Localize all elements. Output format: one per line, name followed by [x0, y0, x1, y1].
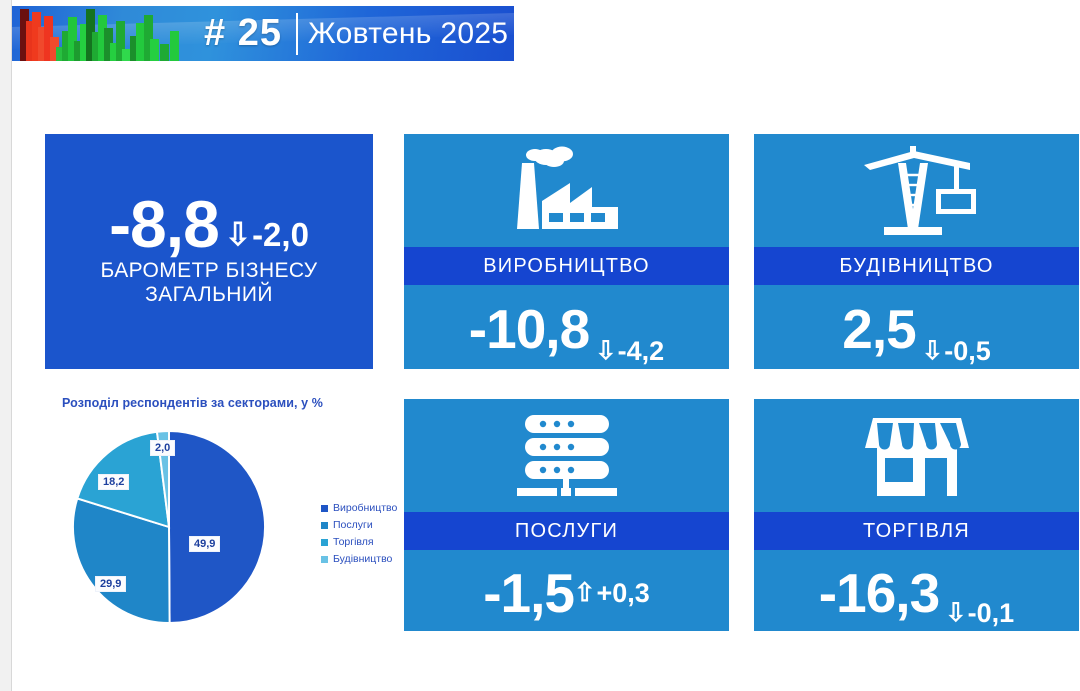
- overall-delta: ⇩-2,0: [225, 218, 309, 251]
- overall-label-line1: БАРОМЕТР БІЗНЕСУ: [100, 259, 317, 283]
- arrow-down-icon: ⇩: [225, 219, 251, 250]
- bar-chart-logo-icon: [18, 6, 198, 61]
- factory-icon: [404, 134, 729, 247]
- sector-delta-construction: ⇩-0,5: [922, 338, 991, 365]
- sector-delta-value-manufacturing: -4,2: [618, 338, 665, 365]
- legend-swatch-icon: [321, 505, 328, 512]
- arrow-down-icon: ⇩: [922, 339, 943, 365]
- legend-swatch-icon: [321, 556, 328, 563]
- sector-card-services: ПОСЛУГИ -1,5 ⇧+0,3: [404, 399, 729, 631]
- page-canvas: # 25 Жовтень 2025 -8,8 ⇩-2,0 БАРОМЕТР БІ…: [12, 0, 1080, 691]
- banner-divider: [296, 13, 298, 55]
- sector-value-row-manufacturing: -10,8 ⇩-4,2: [404, 285, 729, 369]
- arrow-up-icon: ⇧: [574, 581, 595, 607]
- respondents-pie-chart: Розподіл респондентів за секторами, у % …: [45, 396, 390, 636]
- page-left-gutter: [0, 0, 11, 691]
- sector-delta-services: ⇧+0,3: [574, 580, 650, 607]
- legend-item-3: Будівництво: [321, 551, 397, 568]
- sector-delta-manufacturing: ⇩-4,2: [595, 338, 664, 365]
- header-banner: # 25 Жовтень 2025: [12, 6, 514, 61]
- pie-label-3: 2,0: [150, 440, 175, 456]
- pie-svg: [71, 429, 267, 625]
- sector-delta-trade: ⇩-0,1: [945, 600, 1014, 627]
- pie-label-1: 29,9: [95, 576, 126, 592]
- sector-value-row-construction: 2,5 ⇩-0,5: [754, 285, 1079, 369]
- overall-delta-value: -2,0: [252, 218, 309, 251]
- legend-swatch-icon: [321, 522, 328, 529]
- legend-item-0: Виробництво: [321, 500, 397, 517]
- sector-label-construction: БУДІВНИЦТВО: [754, 247, 1079, 285]
- sector-value-trade: -16,3: [819, 569, 939, 619]
- sector-label-services: ПОСЛУГИ: [404, 512, 729, 550]
- overall-label-line2: ЗАГАЛЬНИЙ: [100, 283, 317, 307]
- issue-number: # 25: [188, 8, 298, 58]
- legend-swatch-icon: [321, 539, 328, 546]
- sector-delta-value-construction: -0,5: [944, 338, 991, 365]
- sector-value-row-trade: -16,3 ⇩-0,1: [754, 550, 1079, 631]
- crane-icon: [754, 134, 1079, 247]
- arrow-down-icon: ⇩: [945, 601, 966, 627]
- sector-delta-value-trade: -0,1: [968, 600, 1015, 627]
- overall-barometer-card: -8,8 ⇩-2,0 БАРОМЕТР БІЗНЕСУ ЗАГАЛЬНИЙ: [45, 134, 373, 369]
- legend-label-2: Торгівля: [333, 534, 374, 551]
- sector-delta-value-services: +0,3: [596, 580, 649, 607]
- issue-month: Жовтень 2025: [308, 12, 508, 56]
- legend-item-2: Торгівля: [321, 534, 397, 551]
- sector-value-services: -1,5: [483, 569, 574, 619]
- sector-card-manufacturing: ВИРОБНИЦТВО -10,8 ⇩-4,2: [404, 134, 729, 369]
- pie-canvas: [71, 429, 267, 625]
- server-icon: [404, 399, 729, 512]
- sector-value-row-services: -1,5 ⇧+0,3: [404, 550, 729, 631]
- sector-value-manufacturing: -10,8: [469, 305, 589, 355]
- overall-value-row: -8,8 ⇩-2,0: [109, 195, 309, 254]
- pie-legend: Виробництво Послуги Торгівля Будівництво: [321, 500, 397, 568]
- sector-label-trade: ТОРГІВЛЯ: [754, 512, 1079, 550]
- pie-slice-0: [169, 431, 265, 623]
- arrow-down-icon: ⇩: [595, 339, 616, 365]
- sector-card-trade: ТОРГІВЛЯ -16,3 ⇩-0,1: [754, 399, 1079, 631]
- legend-label-0: Виробництво: [333, 500, 397, 517]
- pie-label-2: 18,2: [98, 474, 129, 490]
- legend-label-1: Послуги: [333, 517, 373, 534]
- sector-value-construction: 2,5: [842, 305, 915, 355]
- pie-label-0: 49,9: [189, 536, 220, 552]
- sector-label-manufacturing: ВИРОБНИЦТВО: [404, 247, 729, 285]
- legend-label-3: Будівництво: [333, 551, 392, 568]
- overall-value: -8,8: [109, 195, 219, 254]
- shop-icon: [754, 399, 1079, 512]
- legend-item-1: Послуги: [321, 517, 397, 534]
- pie-chart-title: Розподіл респондентів за секторами, у %: [62, 396, 323, 410]
- overall-label: БАРОМЕТР БІЗНЕСУ ЗАГАЛЬНИЙ: [100, 259, 317, 308]
- sector-card-construction: БУДІВНИЦТВО 2,5 ⇩-0,5: [754, 134, 1079, 369]
